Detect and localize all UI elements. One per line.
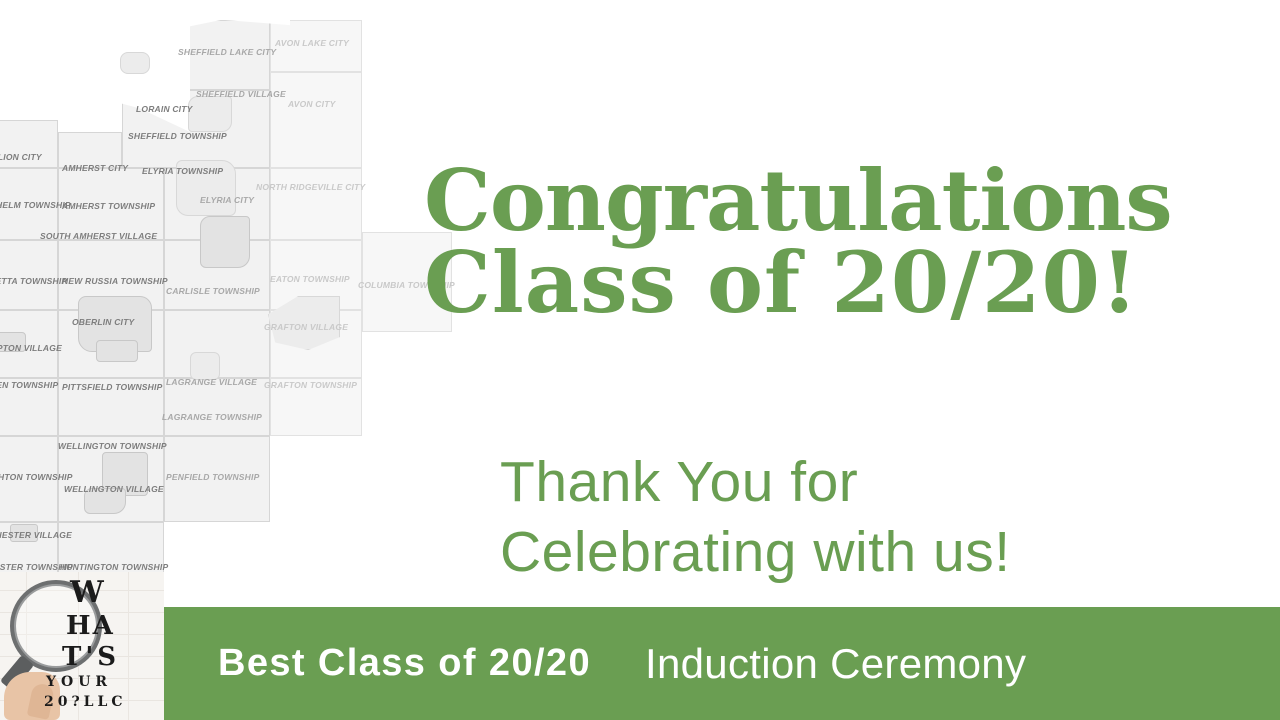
map-municipality-blob — [120, 52, 150, 74]
map-label: BRIGHTON TOWNSHIP — [0, 473, 73, 482]
subheading-line-1: Thank You for — [500, 448, 1200, 518]
map-label: ROCHESTER VILLAGE — [0, 531, 72, 540]
map-label: VERMILION CITY — [0, 153, 42, 162]
map-label: HUNTINGTON TOWNSHIP — [60, 563, 168, 572]
map-cell — [0, 240, 58, 310]
map-label: LAGRANGE VILLAGE — [166, 378, 257, 387]
map-label: PENFIELD TOWNSHIP — [166, 473, 259, 482]
map-label: NORTH RIDGEVILLE CITY — [256, 183, 365, 192]
map-cell — [270, 72, 362, 168]
footer-banner: Best Class of 20/20 Induction Ceremony — [164, 607, 1280, 720]
logo-line-ha: HA — [66, 613, 115, 639]
map-municipality-blob — [96, 340, 138, 362]
map-label: KIPTON VILLAGE — [0, 344, 62, 353]
map-label: PITTSFIELD TOWNSHIP — [62, 383, 162, 392]
map-label: SHEFFIELD VILLAGE — [196, 90, 286, 99]
map-label: EATON TOWNSHIP — [270, 275, 350, 284]
lorain-county-map: SHEFFIELD LAKE CITYAVON LAKE CITYSHEFFIE… — [0, 0, 470, 600]
map-label: SHEFFIELD TOWNSHIP — [128, 132, 227, 141]
map-label: LAGRANGE TOWNSHIP — [162, 413, 262, 422]
logo-line-your: YOUR — [46, 675, 112, 689]
map-label: WELLINGTON TOWNSHIP — [58, 442, 167, 451]
map-label: SHEFFIELD LAKE CITY — [178, 48, 276, 57]
footer-event-title: Best Class of 20/20 — [218, 642, 591, 685]
footer-event-subtitle: Induction Ceremony — [645, 640, 1026, 688]
logo-line-llc: 20?LLC — [44, 695, 127, 709]
map-label: SOUTH AMHERST VILLAGE — [40, 232, 157, 241]
map-label: AVON LAKE CITY — [275, 39, 349, 48]
map-municipality-blob — [200, 216, 250, 268]
map-label: CAMDEN TOWNSHIP — [0, 381, 58, 390]
map-cell — [270, 168, 362, 240]
headline-line-1: Congratulations — [424, 160, 1224, 242]
map-label: AMHERST CITY — [62, 164, 128, 173]
map-label: OBERLIN CITY — [72, 318, 134, 327]
logo-line-ts: T'S — [62, 644, 120, 670]
subheading-line-2: Celebrating with us! — [500, 518, 1200, 588]
map-label: NEW RUSSIA TOWNSHIP — [62, 277, 168, 286]
page-title: Congratulations Class of 20/20! — [424, 160, 1224, 325]
map-label: WELLINGTON VILLAGE — [64, 485, 164, 494]
map-label: LORAIN CITY — [136, 105, 193, 114]
map-label: GRAFTON TOWNSHIP — [264, 381, 357, 390]
logo-line-w: W — [70, 578, 105, 608]
map-label: AMHERST TOWNSHIP — [62, 202, 155, 211]
map-label: ELYRIA TOWNSHIP — [142, 167, 223, 176]
subheading: Thank You for Celebrating with us! — [500, 448, 1200, 587]
headline-line-2: Class of 20/20! — [424, 242, 1224, 324]
map-label: BROWNHELM TOWNSHIP — [0, 201, 71, 210]
map-label: GRAFTON VILLAGE — [264, 323, 348, 332]
map-label: HENRIETTA TOWNSHIP — [0, 277, 67, 286]
map-label: ELYRIA CITY — [200, 196, 254, 205]
poster-canvas: SHEFFIELD LAKE CITYAVON LAKE CITYSHEFFIE… — [0, 0, 1280, 720]
map-municipality-blob — [188, 96, 232, 132]
map-label: AVON CITY — [288, 100, 335, 109]
map-label: CARLISLE TOWNSHIP — [166, 287, 260, 296]
map-municipality-blob — [190, 352, 220, 380]
